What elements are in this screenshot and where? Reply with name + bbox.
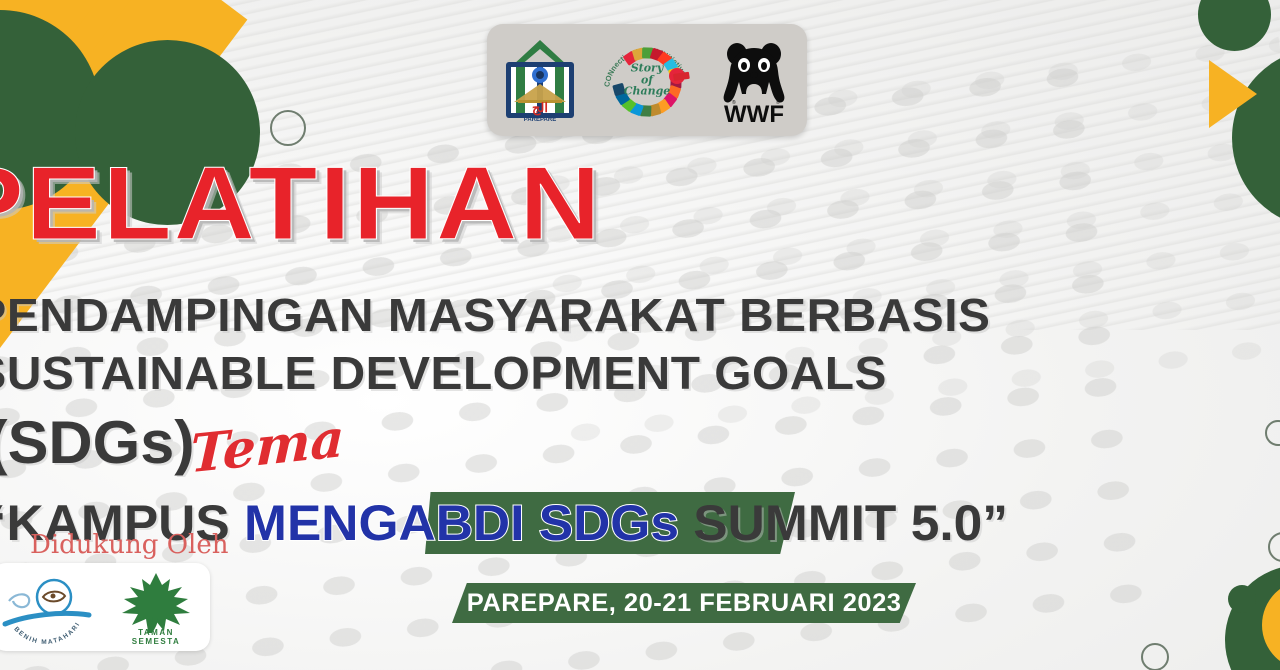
taman-semesta-caption-2: SEMESTA — [131, 637, 180, 645]
organizer-logo-bar: الج PAREPARE CONnecting LOcal iNitiative… — [487, 24, 807, 136]
event-poster: الج PAREPARE CONnecting LOcal iNitiative… — [0, 0, 1280, 670]
supporter-logo-box: BENIH MATAHARI TAMAN SEMESTA — [0, 563, 210, 651]
supporter-label: Didukung Oleh — [30, 530, 228, 560]
poster-subtitle-line-1: PENDAMPINGAN MASYARAKAT BERBASIS — [0, 292, 1280, 338]
benih-matahari-caption: BENIH MATAHARI — [12, 621, 82, 645]
date-location-ribbon: PAREPARE, 20-21 FEBRUARI 2023 — [452, 583, 916, 623]
outline-circle-top-left — [270, 110, 306, 146]
story-of-change-center-text: Story of Change — [624, 63, 671, 98]
poster-title: PELATIHAN — [0, 152, 1280, 256]
acronym-row: Tema (SDGs) — [0, 408, 1280, 478]
taman-semesta-caption-1: TAMAN — [138, 628, 174, 637]
yellow-triangle-top-right — [1209, 60, 1257, 128]
poster-subtitle-line-2: SUSTAINABLE DEVELOPMENT GOALS — [0, 350, 1280, 396]
story-of-change-logo: CONnecting LOcal iNitiatives Story of Ch… — [599, 32, 695, 128]
wwf-wordmark: WWF — [724, 101, 784, 128]
svg-text:BENIH MATAHARI: BENIH MATAHARI — [12, 621, 82, 645]
sdgs-acronym: (SDGs) — [0, 408, 1280, 477]
theme-quote-highlight: MENGABDI SDGs — [244, 495, 679, 551]
date-location-text: PAREPARE, 20-21 FEBRUARI 2023 — [467, 589, 902, 618]
green-dot-bottom-right — [1228, 585, 1256, 613]
iain-parepare-logo: الج PAREPARE — [492, 32, 588, 128]
benih-matahari-logo: BENIH MATAHARI — [0, 569, 95, 645]
wwf-logo: ® ® WWF — [706, 32, 802, 128]
iain-caption: PAREPARE — [524, 117, 556, 123]
svg-text:الج: الج — [532, 101, 548, 116]
taman-semesta-logo: TAMAN SEMESTA — [108, 569, 204, 645]
theme-quote-part-2: SUMMIT 5.0” — [679, 495, 1008, 551]
outline-circle-bottom-right-lower — [1141, 643, 1169, 670]
